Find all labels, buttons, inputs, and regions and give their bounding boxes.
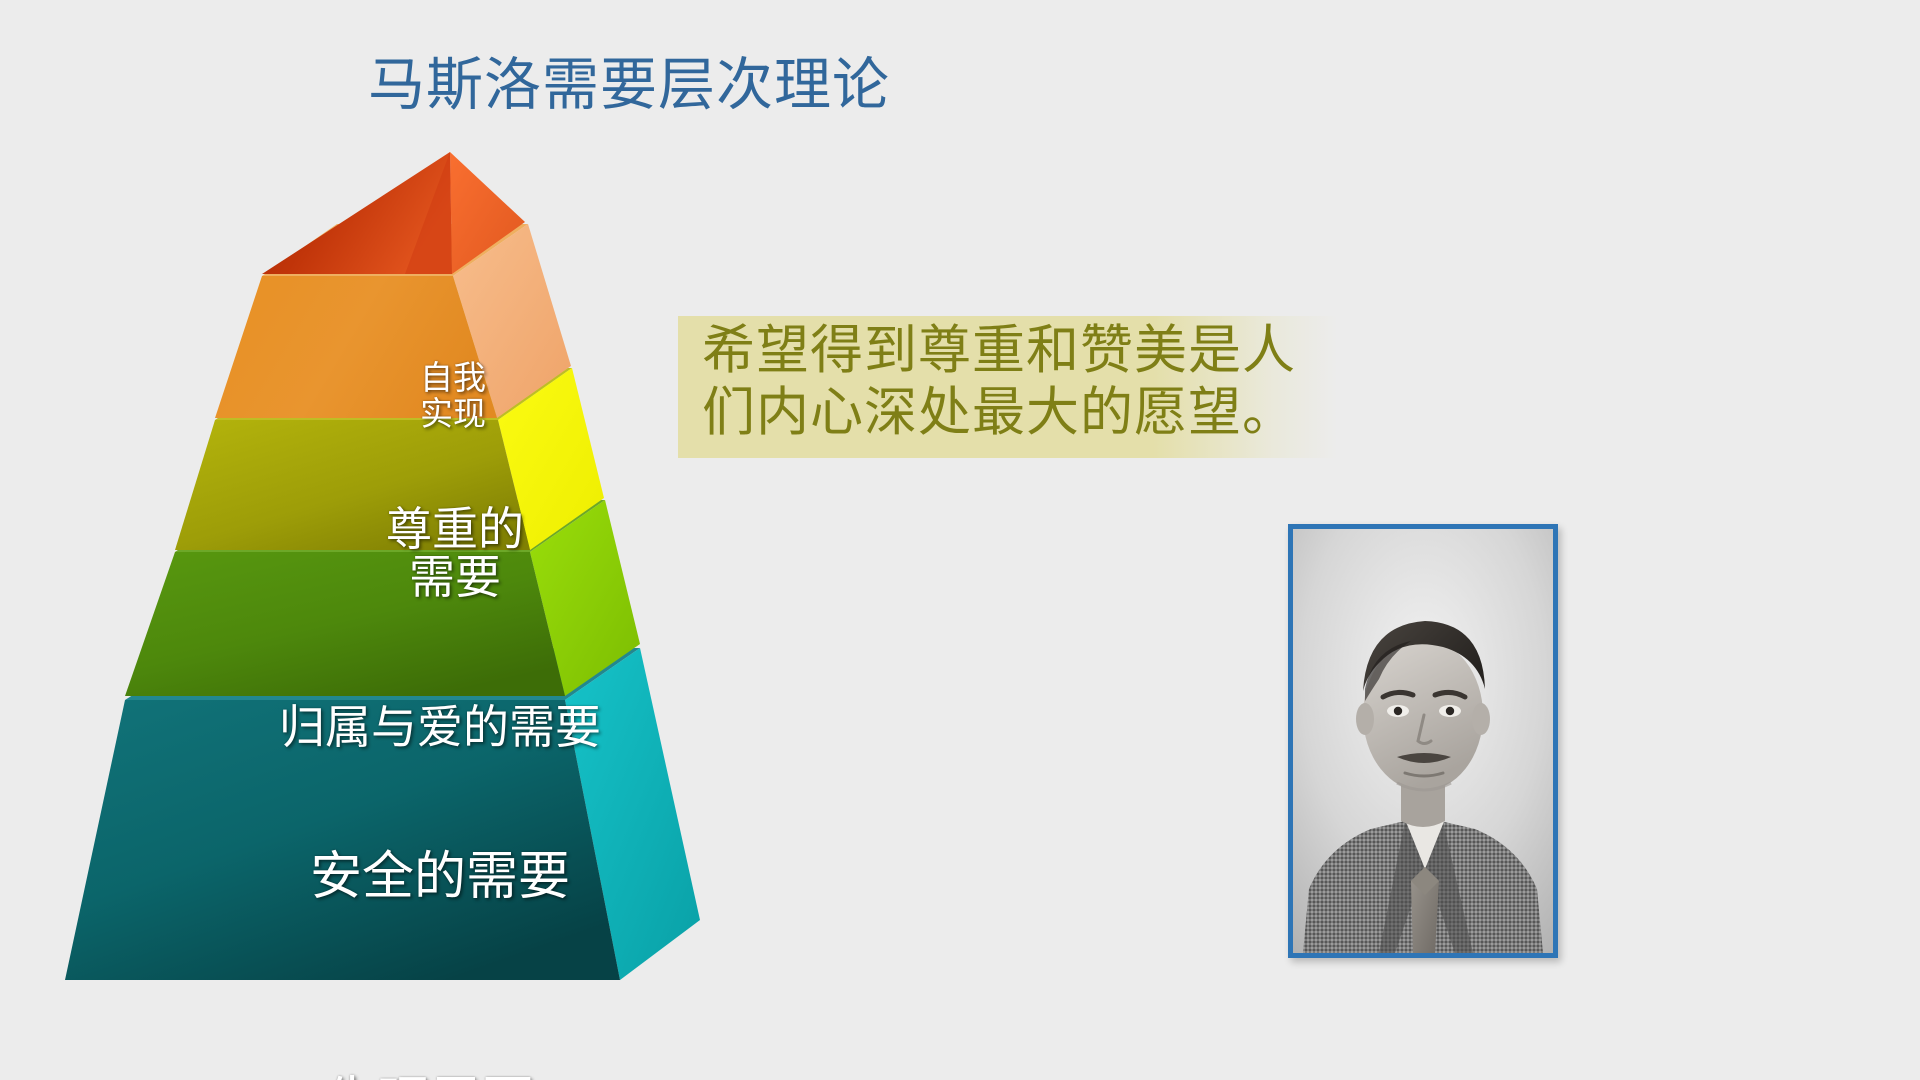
- pyramid-tier-physiological[interactable]: [65, 648, 700, 980]
- callout-box: 希望得到尊重和赞美是人 们内心深处最大的愿望。: [678, 316, 1338, 458]
- maslow-hierarchy-pyramid: 自我 实现 尊重的 需要 归属与爱的需要 安全的需要 生理需要: [0, 120, 1000, 1080]
- portrait-image: [1293, 529, 1553, 953]
- portrait-frame: [1288, 524, 1558, 958]
- slide-canvas: 马斯洛需要层次理论: [0, 0, 1920, 1080]
- callout-text: 希望得到尊重和赞美是人 们内心深处最大的愿望。: [702, 320, 1322, 444]
- pyramid-svg: [0, 120, 1000, 1080]
- page-title: 马斯洛需要层次理论: [368, 50, 890, 120]
